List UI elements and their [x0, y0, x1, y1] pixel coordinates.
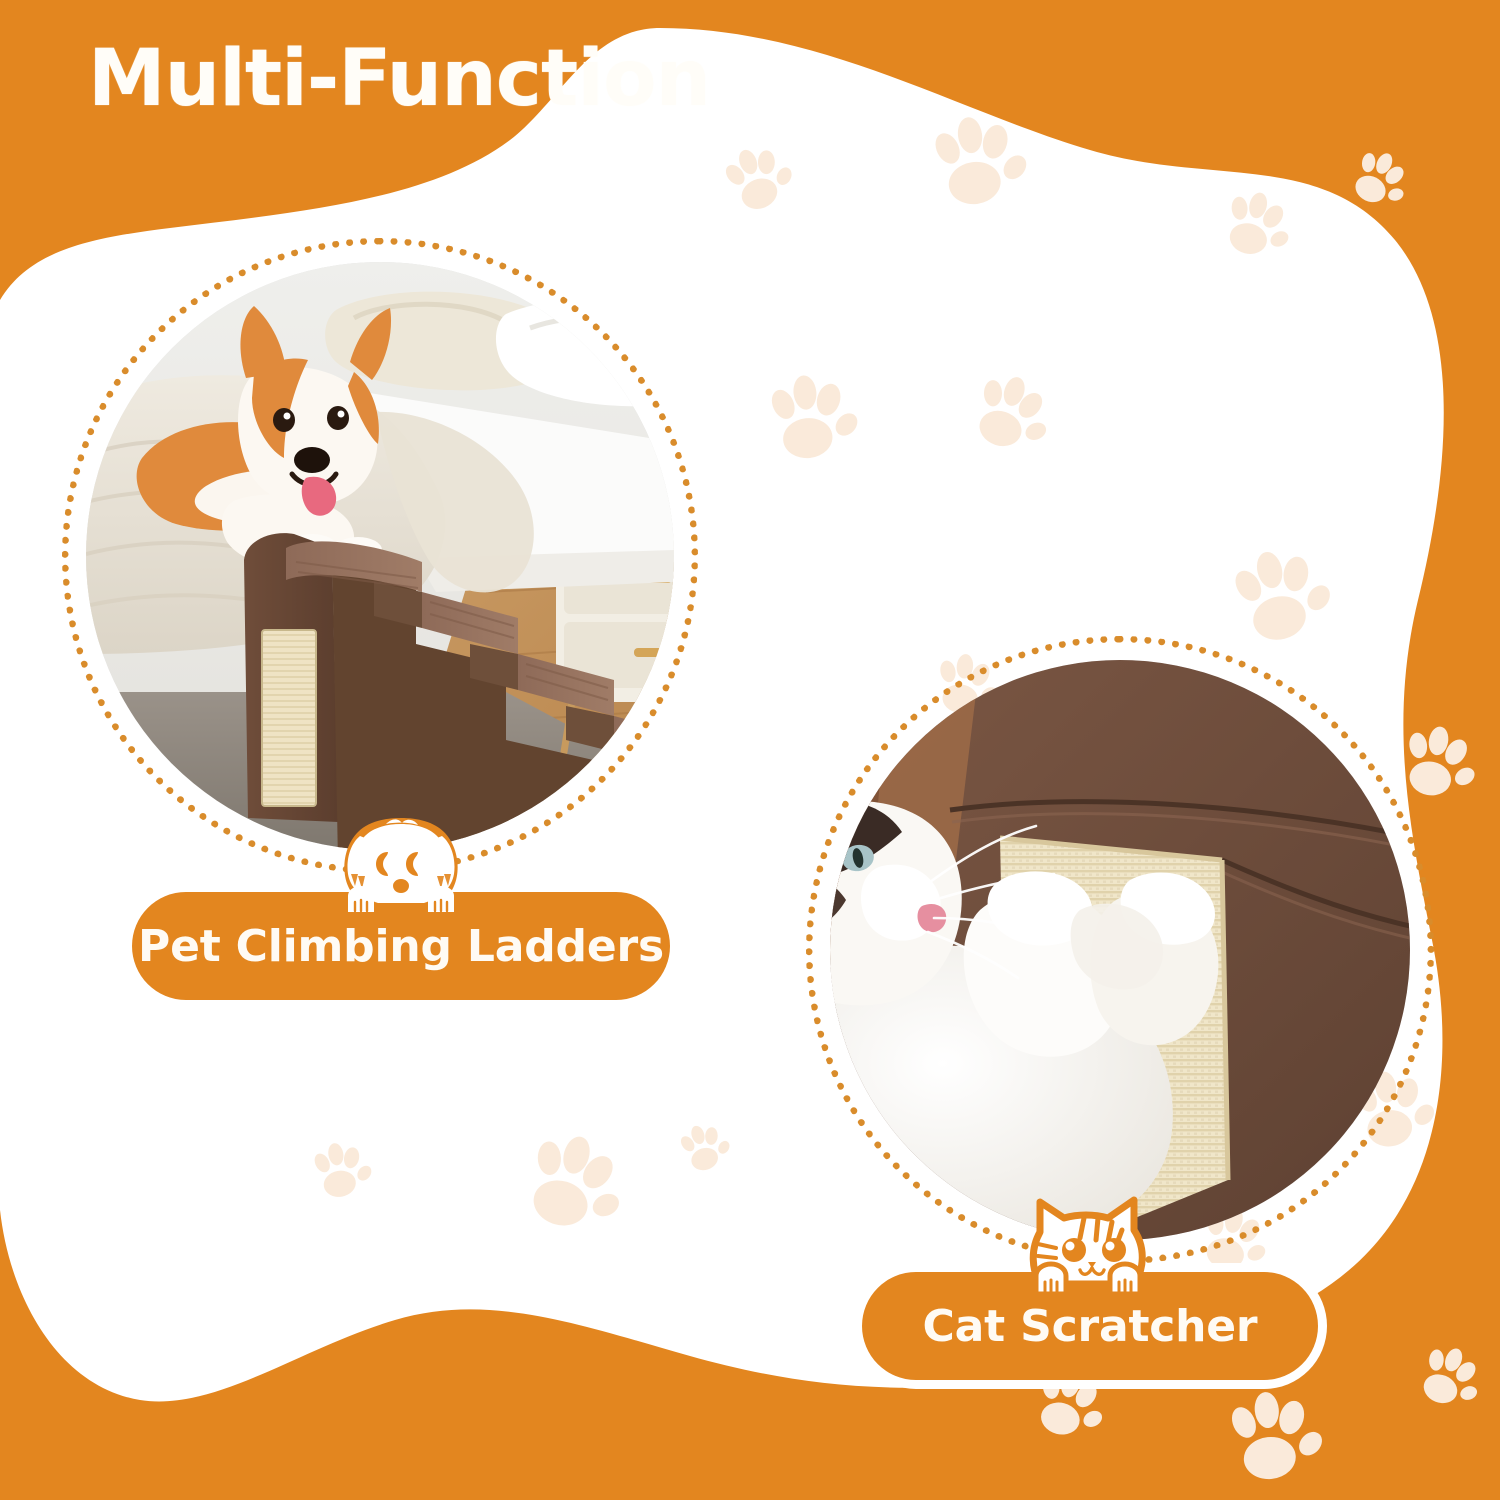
- cat-face-icon: [1022, 1192, 1152, 1300]
- infographic-canvas: Multi-Function: [0, 0, 1500, 1500]
- photo-pet-climbing-ladders: [86, 262, 674, 850]
- feature-photo-pet-climbing-ladders: [62, 238, 698, 874]
- photo-cat-scratcher: [830, 660, 1410, 1240]
- page-title: Multi-Function: [88, 34, 710, 124]
- sisal-scratch-panel: [262, 630, 316, 806]
- dog-face-icon: [338, 816, 464, 920]
- feature-photo-cat-scratcher: [806, 636, 1434, 1264]
- feature-label-text: Pet Climbing Ladders: [138, 921, 664, 972]
- feature-label-text: Cat Scratcher: [923, 1301, 1258, 1352]
